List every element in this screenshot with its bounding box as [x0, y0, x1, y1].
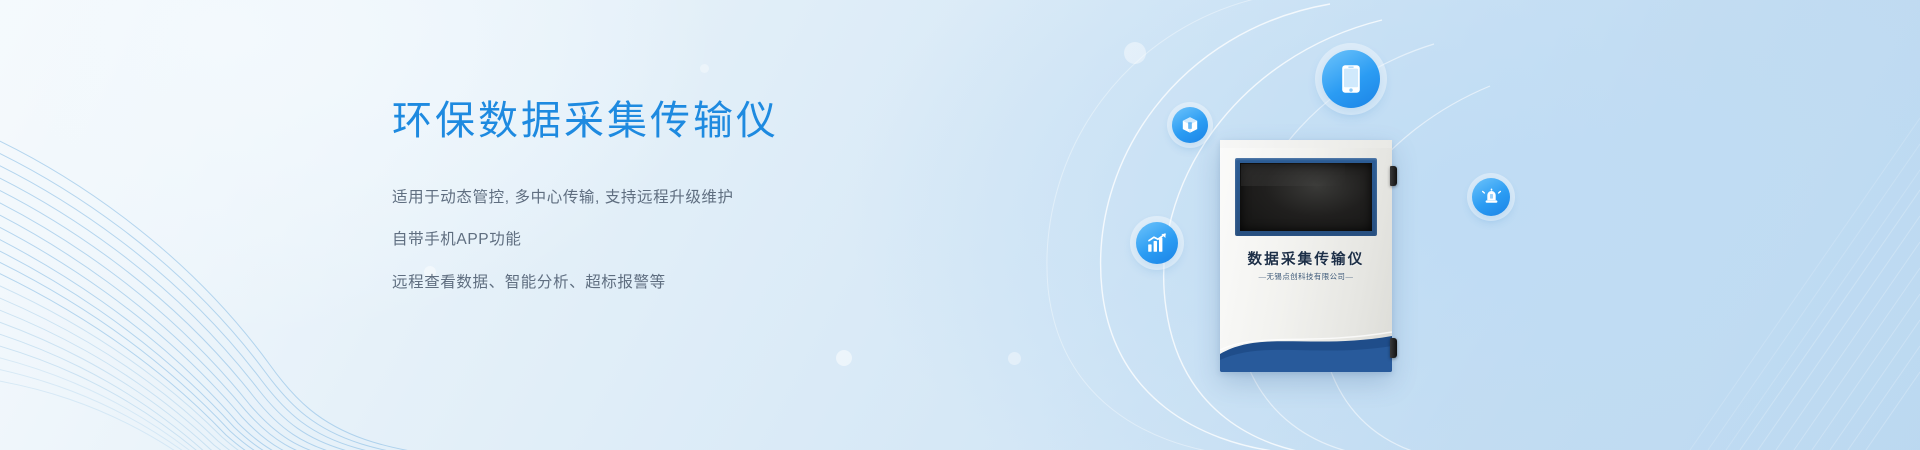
product-device-image: 数据采集传输仪 —无锡点创科技有限公司— [1220, 140, 1392, 372]
bokeh-dot [700, 64, 709, 73]
device-screen [1240, 163, 1372, 231]
mobile-phone-icon [1341, 64, 1361, 94]
feature-list: 适用于动态管控, 多中心传输, 支持远程升级维护 自带手机APP功能 远程查看数… [392, 186, 952, 294]
device-side-button [1390, 338, 1397, 358]
bokeh-dot [1124, 42, 1146, 64]
feature-item: 适用于动态管控, 多中心传输, 支持远程升级维护 [392, 186, 952, 209]
badge-threshold-alarm[interactable] [1472, 178, 1510, 216]
device-side-button [1390, 166, 1397, 186]
device-label: 数据采集传输仪 [1220, 248, 1392, 269]
device-company-label: —无锡点创科技有限公司— [1220, 271, 1392, 282]
product-hero-banner: 环保数据采集传输仪 适用于动态管控, 多中心传输, 支持远程升级维护 自带手机A… [0, 0, 1920, 450]
feature-item: 自带手机APP功能 [392, 228, 952, 251]
badge-data-analysis[interactable] [1136, 222, 1178, 264]
bar-chart-growth-icon [1146, 232, 1168, 254]
badge-mobile-app[interactable] [1322, 50, 1380, 108]
bokeh-dot [836, 350, 852, 366]
hero-copy-block: 环保数据采集传输仪 适用于动态管控, 多中心传输, 支持远程升级维护 自带手机A… [392, 96, 952, 294]
feature-item: 远程查看数据、智能分析、超标报警等 [392, 271, 952, 294]
page-title: 环保数据采集传输仪 [392, 96, 952, 146]
device-screen-bezel [1235, 158, 1377, 236]
cube-box-icon [1181, 116, 1199, 134]
device-wave-graphic [1220, 314, 1392, 372]
alarm-siren-icon [1482, 188, 1501, 207]
bokeh-dot [1008, 352, 1021, 365]
badge-device-module[interactable] [1172, 107, 1208, 143]
device-top-strip [1220, 140, 1392, 148]
